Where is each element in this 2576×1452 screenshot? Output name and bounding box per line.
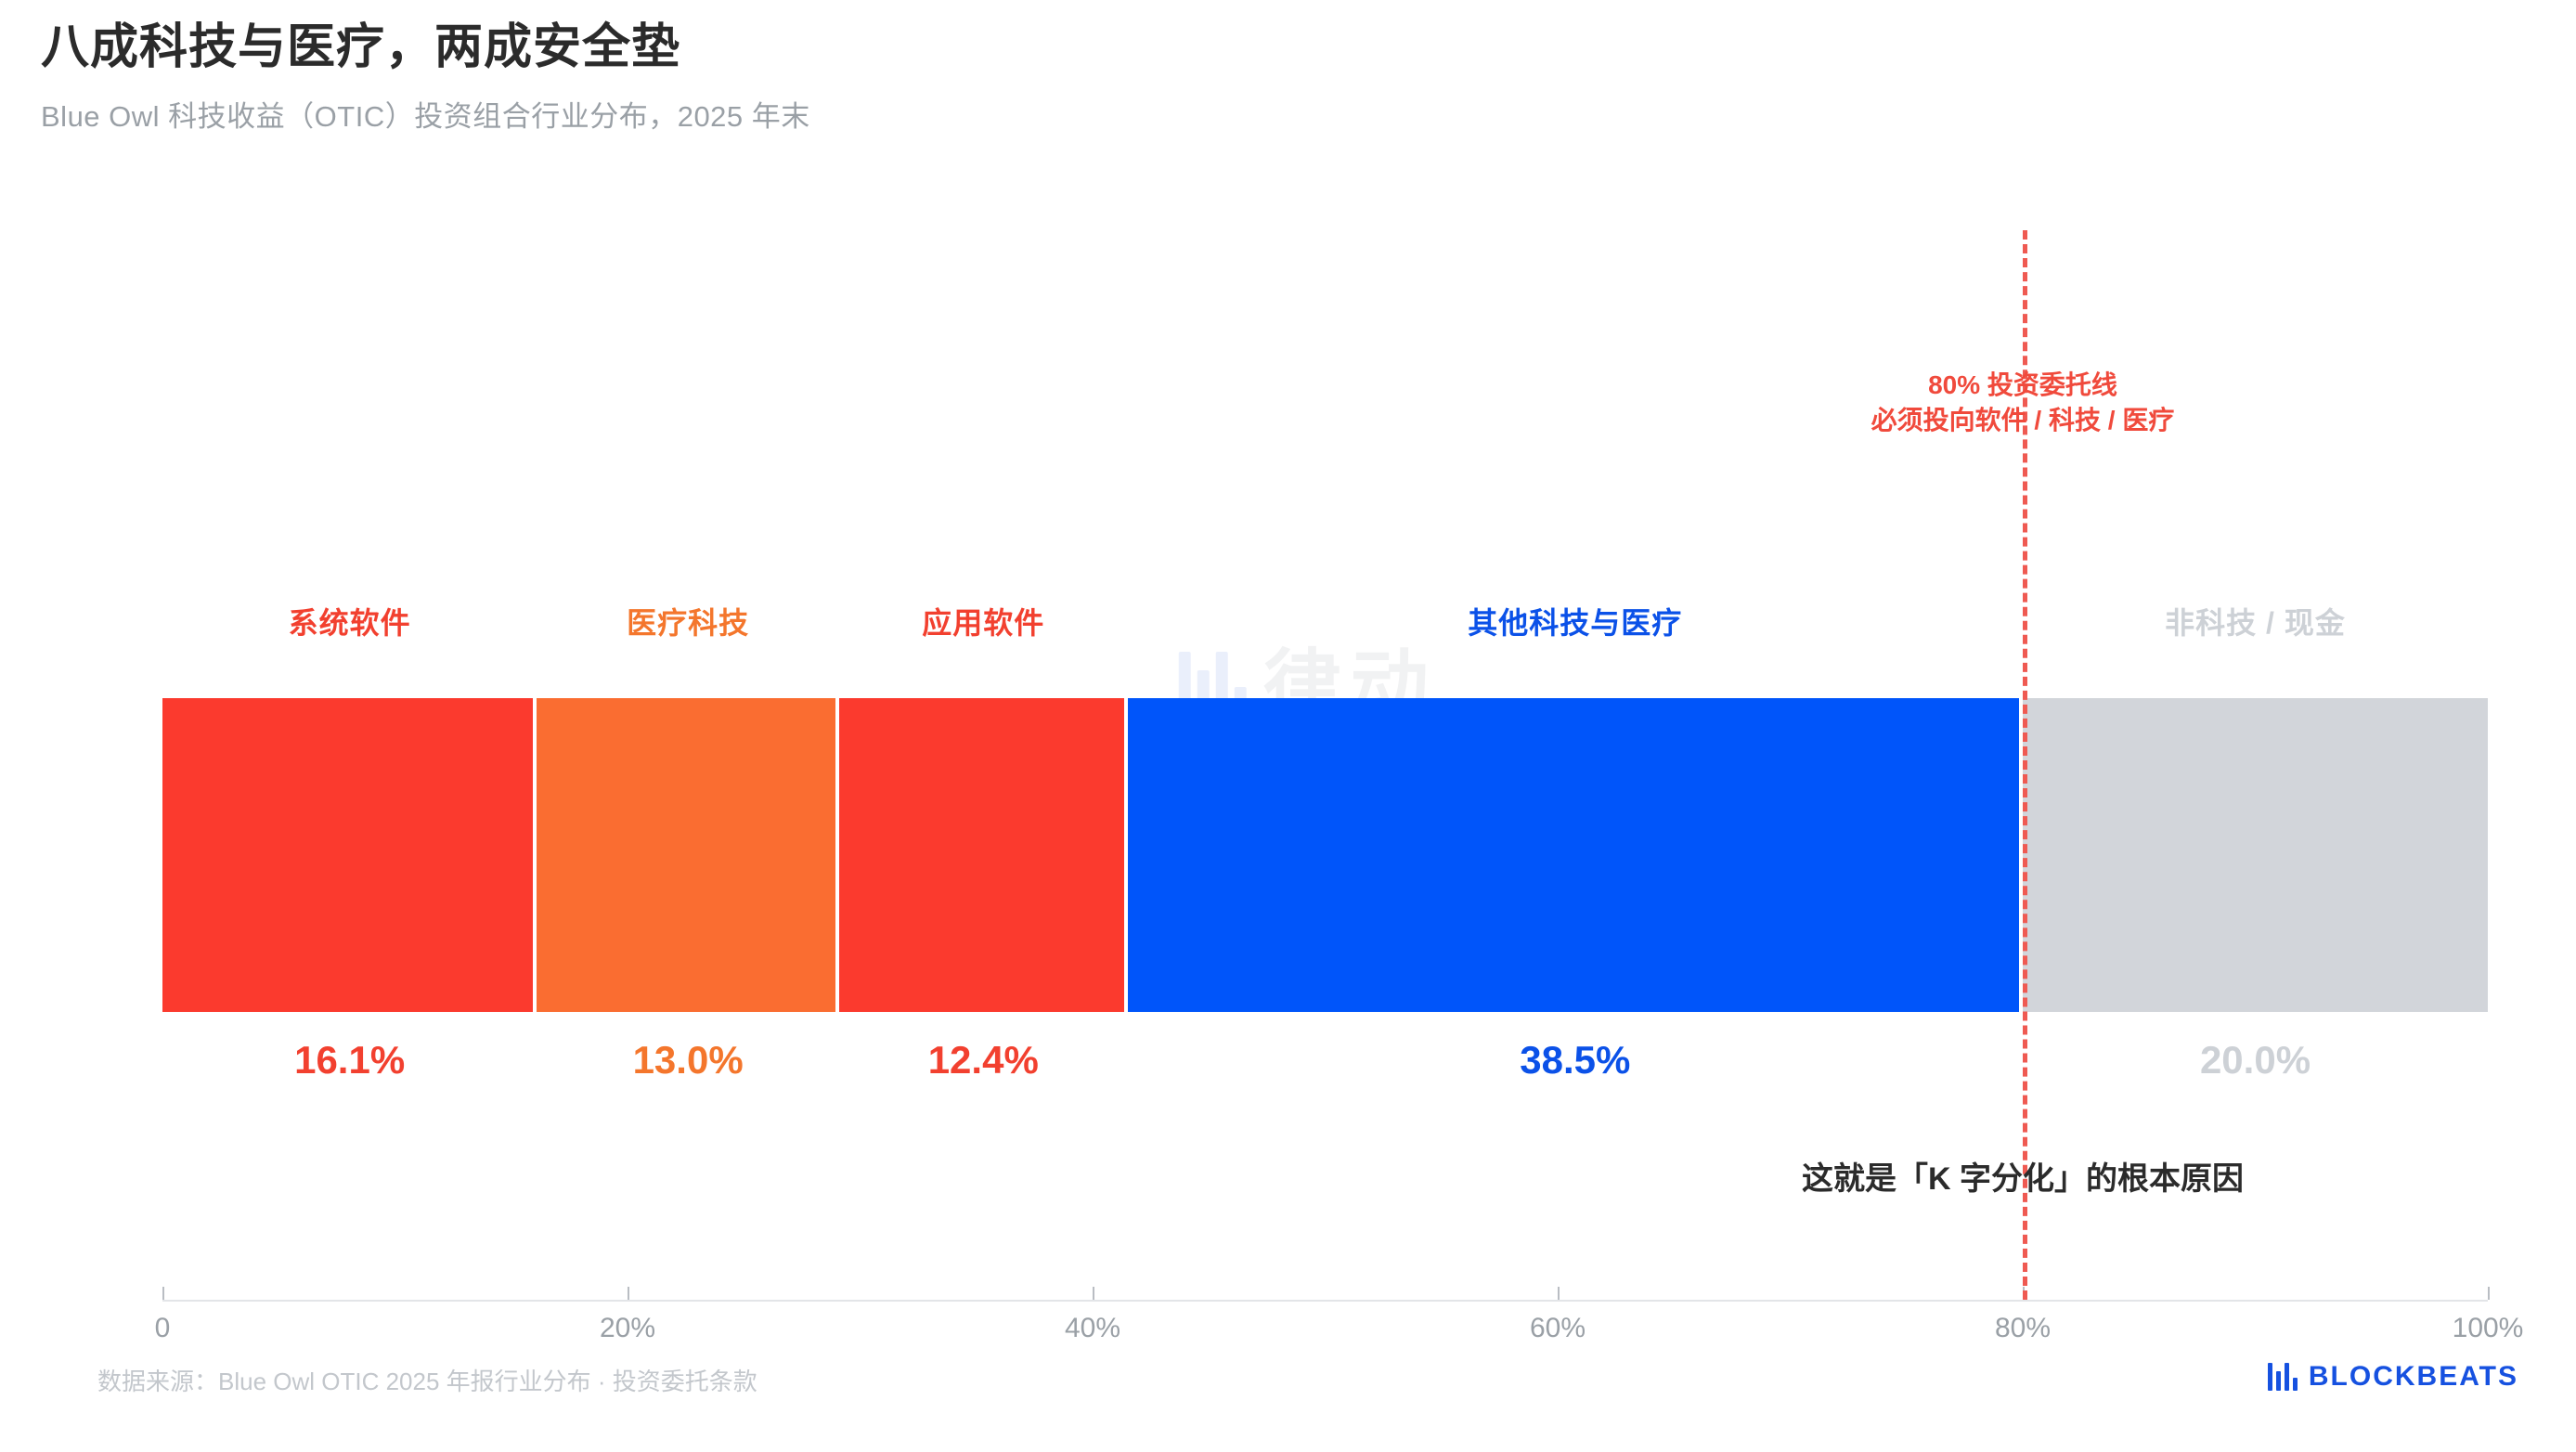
logo-bars-icon [2268,1363,2298,1391]
segment-value-label: 16.1% [294,1038,405,1083]
x-axis-tick-label: 80% [1995,1313,2051,1344]
segment-label: 应用软件 [922,600,1044,642]
chart-plot-area: 律动 BLOCKBEATS 系统软件医疗科技应用软件其他科技与医疗非科技 / 现… [162,0,2488,1452]
x-axis-tick [628,1287,629,1300]
segment-value-label: 38.5% [1520,1038,1630,1083]
source-note: 数据来源：Blue Owl OTIC 2025 年报行业分布 · 投资委托条款 [97,1363,757,1397]
segment-value-row: 16.1%13.0%12.4%38.5%20.0% [162,1038,2488,1094]
threshold-annotation-line2: 必须投向软件 / 科技 / 医疗 [1871,403,2175,438]
segment-value-label: 13.0% [633,1038,744,1083]
segment-label: 医疗科技 [627,600,749,642]
x-axis-line [162,1300,2488,1302]
chart-caption: 这就是「K 字分化」的根本原因 [1802,1153,2244,1199]
logo-wordmark: BLOCKBEATS [2309,1361,2518,1393]
threshold-annotation: 80% 投资委托线 必须投向软件 / 科技 / 医疗 [1871,368,2175,438]
x-axis-tick [1558,1287,1560,1300]
x-axis-tick-label: 40% [1065,1313,1120,1344]
x-axis-tick-label: 20% [600,1313,655,1344]
bar-segment[interactable] [2023,698,2488,1012]
bar-segment[interactable] [1128,698,2023,1012]
stacked-bar [162,698,2488,1012]
segment-value-label: 12.4% [928,1038,1039,1083]
x-axis-tick [2488,1287,2490,1300]
x-axis-tick-label: 100% [2453,1313,2524,1344]
threshold-annotation-line1: 80% 投资委托线 [1871,368,2175,403]
blockbeats-logo: BLOCKBEATS [2268,1361,2518,1393]
bar-segment[interactable] [839,698,1128,1012]
segment-value-label: 20.0% [2200,1038,2311,1083]
segment-label-row: 系统软件医疗科技应用软件其他科技与医疗非科技 / 现金 [162,600,2488,644]
x-axis-tick-label: 0 [155,1313,171,1344]
bar-segment[interactable] [162,698,537,1012]
x-axis-tick [162,1287,164,1300]
bar-segment[interactable] [537,698,839,1012]
segment-label: 系统软件 [289,600,411,642]
x-axis-tick [1093,1287,1094,1300]
segment-label: 其他科技与医疗 [1468,600,1682,642]
segment-label: 非科技 / 现金 [2165,600,2346,642]
x-axis-tick-label: 60% [1530,1313,1586,1344]
